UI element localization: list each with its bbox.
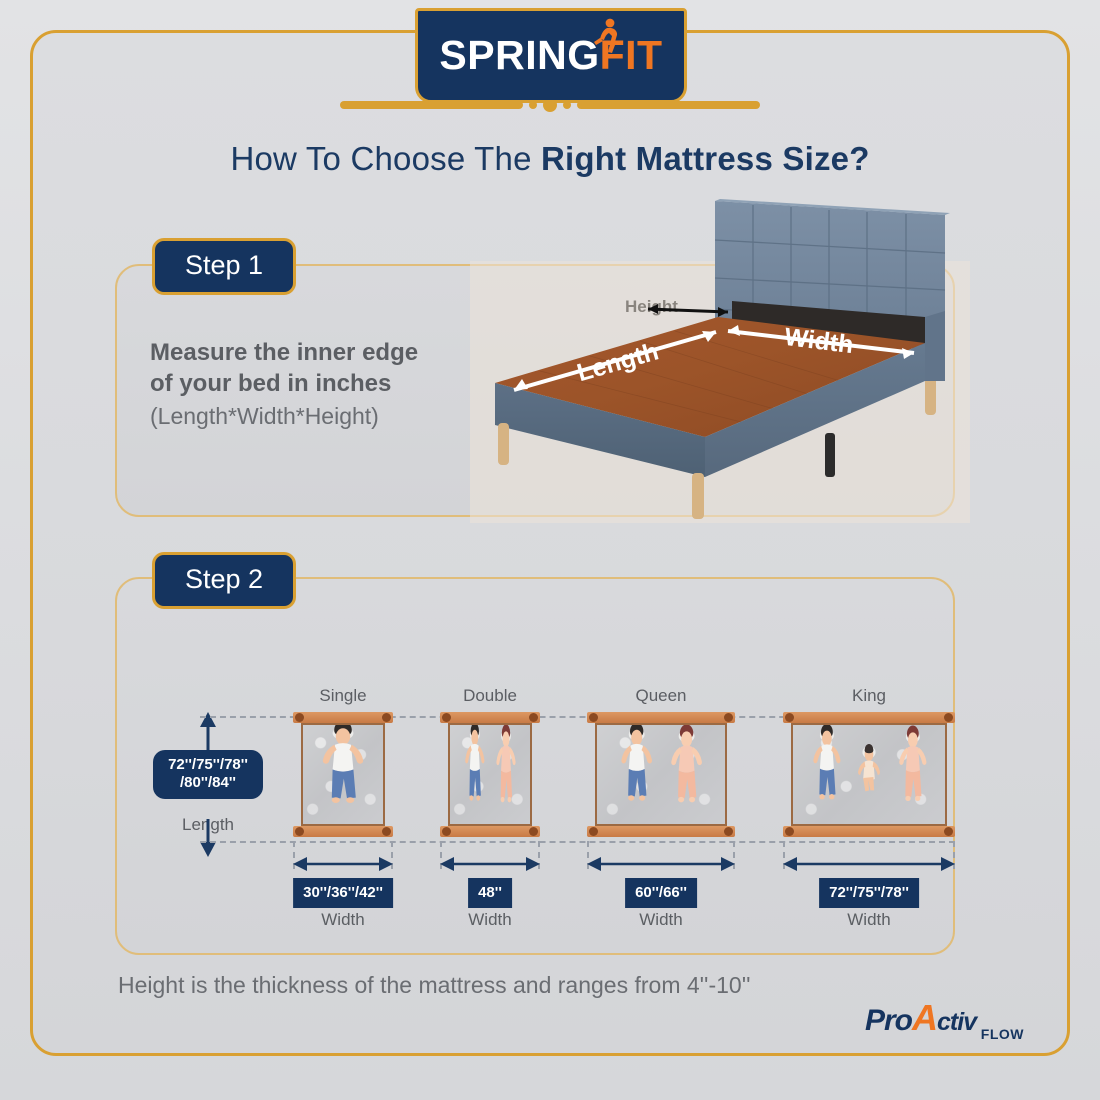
width-arrow-icon (587, 857, 735, 871)
mattress-category-label: Single (293, 686, 393, 706)
width-value-badge: 60''/66'' (625, 878, 697, 908)
width-caption: Width (440, 910, 540, 930)
step-1-instructions: Measure the inner edge of your bed in in… (150, 337, 480, 433)
width-caption: Width (293, 910, 393, 930)
bed-rail-top (293, 712, 393, 723)
bed-knob-bl (589, 827, 598, 836)
bed-rail-bottom (587, 826, 735, 837)
bed-rail-bottom (783, 826, 955, 837)
bed-knob-bl (442, 827, 451, 836)
width-arrow-icon (783, 857, 955, 871)
bed-rail-bottom (293, 826, 393, 837)
step-2-badge: Step 2 (152, 552, 296, 609)
mattress-surface (595, 723, 727, 826)
bed-knob-tr (382, 713, 391, 722)
width-value-badge: 30''/36''/42'' (293, 878, 393, 908)
mattress-bed-box (587, 712, 735, 837)
mattress-category-label: King (783, 686, 955, 706)
step-1-line-3: (Length*Width*Height) (150, 399, 480, 433)
mattress-bed-box (440, 712, 540, 837)
bed-knob-br (382, 827, 391, 836)
proactiv-flow-logo: ProActiv FLOW (865, 1000, 1025, 1046)
width-value-badge: 72''/75''/78'' (819, 878, 919, 908)
mattress-size-row: Single 30''/36''/42''WidthDouble (115, 686, 955, 926)
mattress-bed-box (293, 712, 393, 837)
bed-knob-tr (724, 713, 733, 722)
page-title-regular: How To Choose The (230, 140, 541, 177)
width-caption: Width (783, 910, 955, 930)
bed-rail-top (440, 712, 540, 723)
brand-logo-text: SPRINGFIT (439, 35, 662, 76)
width-arrow-icon (293, 857, 393, 871)
width-arrow-icon (440, 857, 540, 871)
mattress-surface (301, 723, 385, 826)
proactiv-a: A (912, 997, 937, 1038)
bed-knob-bl (785, 827, 794, 836)
bed-knob-tl (589, 713, 598, 722)
step-1-line-1: Measure the inner edge (150, 337, 480, 368)
width-value-badge: 48'' (468, 878, 512, 908)
bed-rail-bottom (440, 826, 540, 837)
bed-svg: Length Width (470, 185, 970, 535)
mattress-category-label: Queen (587, 686, 735, 706)
proactiv-flow-word: FLOW (981, 1026, 1024, 1042)
mattress-surface (448, 723, 532, 826)
bed-knob-br (529, 827, 538, 836)
proactiv-ctiv: ctiv (937, 1008, 976, 1036)
bed-knob-tl (785, 713, 794, 722)
page-title: How To Choose The Right Mattress Size? (0, 140, 1100, 178)
bed-knob-tl (295, 713, 304, 722)
bed-knob-br (724, 827, 733, 836)
proactiv-text: ProActiv (865, 1004, 976, 1037)
bed-rail-top (587, 712, 735, 723)
step-1-line-2: of your bed in inches (150, 368, 480, 399)
page-title-bold: Right Mattress Size? (541, 140, 870, 177)
mattress-surface (791, 723, 947, 826)
bed-rail-top (783, 712, 955, 723)
mattress-category-label: Double (440, 686, 540, 706)
bed-knob-bl (295, 827, 304, 836)
bed-knob-tl (442, 713, 451, 722)
mattress-bed-box (783, 712, 955, 837)
running-figure-icon (593, 18, 623, 54)
step-1-badge: Step 1 (152, 238, 296, 295)
bed-knob-br (944, 827, 953, 836)
bed-knob-tr (529, 713, 538, 722)
bed-illustration: Length Width (470, 185, 970, 535)
width-caption: Width (587, 910, 735, 930)
brand-logo: SPRINGFIT (415, 8, 687, 103)
bed-knob-tr (944, 713, 953, 722)
brand-logo-spring: SPRING (439, 32, 599, 78)
footer-note: Height is the thickness of the mattress … (118, 972, 750, 999)
proactiv-pro: Pro (865, 1004, 912, 1037)
